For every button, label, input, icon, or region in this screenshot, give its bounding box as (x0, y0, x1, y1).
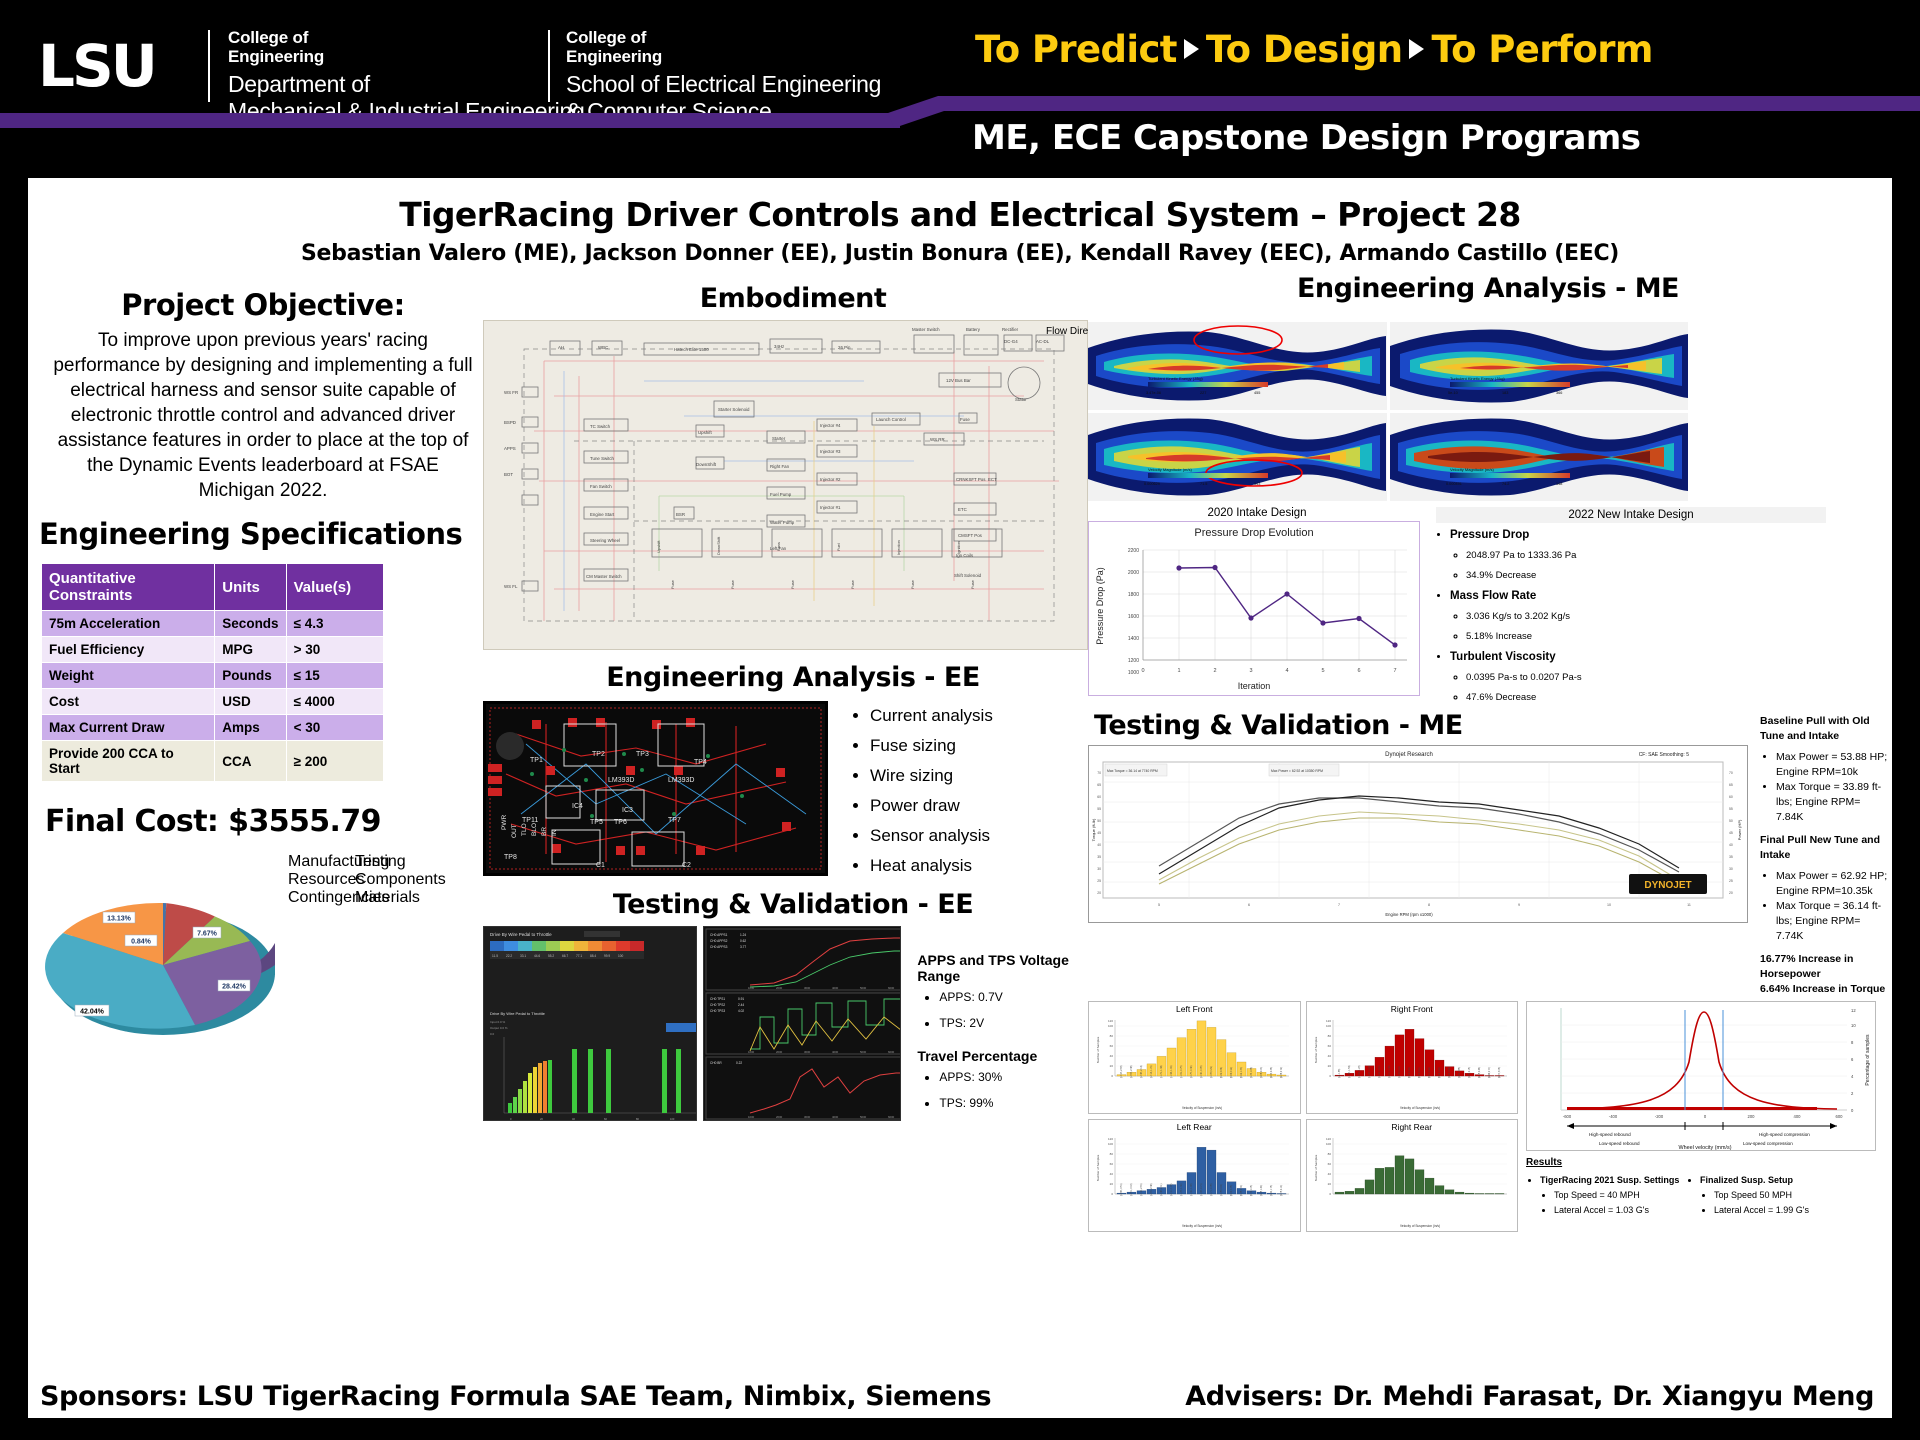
me-bullet-title: Pressure Drop (1450, 525, 1826, 546)
svg-text:3000: 3000 (804, 1050, 811, 1054)
svg-text:[2.03,2.38): [2.03,2.38) (1271, 1067, 1273, 1078)
wiring-schematic-image: AHWBC Hatech Elite 1500 34Hz26 Pin Maste… (483, 320, 1088, 650)
logo-divider-1 (208, 30, 210, 102)
svg-text:80: 80 (1110, 1034, 1114, 1038)
svg-text:200: 200 (1748, 1114, 1756, 1119)
col-units: Units (215, 564, 286, 611)
svg-text:[0.00,0.35): [0.00,0.35) (1231, 1185, 1233, 1196)
summary-hp: 16.77% Increase in Horsepower (1760, 952, 1888, 982)
svg-text:40: 40 (1327, 1054, 1331, 1058)
svg-text:Ignition: Ignition (956, 541, 961, 554)
middle-column: Embodiment (483, 283, 1103, 1121)
svg-text:Water Pump: Water Pump (770, 520, 795, 525)
pcb-layout-image: TP1TP2TP3 TP4TP11TP5 TP6TP7TP8 C1C2 IC4I… (483, 701, 828, 876)
svg-text:Fuse: Fuse (670, 579, 675, 589)
svg-text:DC-G4: DC-G4 (1004, 339, 1018, 344)
svg-text:100: 100 (618, 954, 624, 958)
legend-label: Materials (355, 889, 420, 906)
svg-text:[1.40,1.75): [1.40,1.75) (1271, 1185, 1273, 1196)
legend-item: Testing (355, 853, 415, 871)
chart-title: Pressure Drop Evolution (1194, 527, 1313, 539)
svg-text:2.44: 2.44 (738, 1003, 744, 1007)
poster-header: LSU College of Engineering Department of… (0, 0, 1920, 175)
svg-text:6000: 6000 (888, 986, 895, 990)
tagline-perform: To Perform (1431, 28, 1652, 71)
dept1-college: College of (228, 28, 584, 47)
svg-text:WS RR: WS RR (930, 437, 945, 442)
svg-text:[0.35,0.70): [0.35,0.70) (1241, 1185, 1243, 1196)
results-col1-item: Lateral Accel = 1.03 G's (1554, 1203, 1686, 1218)
svg-text:40: 40 (1097, 843, 1101, 847)
svg-text:[-1.44,-1.09): [-1.44,-1.09) (1171, 1065, 1173, 1078)
svg-text:600: 600 (1836, 1114, 1844, 1119)
svg-text:[1.05,1.40): [1.05,1.40) (1261, 1185, 1263, 1196)
svg-text:60: 60 (1110, 1162, 1114, 1166)
svg-text:[-0.30,0.00): [-0.30,0.00) (1399, 1066, 1401, 1078)
svg-text:IN: IN (551, 829, 558, 836)
svg-text:[1.75,2.10): [1.75,2.10) (1281, 1185, 1283, 1196)
svg-text:3.77: 3.77 (740, 945, 746, 949)
svg-text:55.2: 55.2 (548, 954, 554, 958)
spec-units: USD (215, 689, 286, 715)
svg-text:34Hz: 34Hz (774, 344, 784, 349)
svg-text:Input 0.0 %: Input 0.0 % (490, 1020, 506, 1024)
objective-text: To improve upon previous years' racing p… (33, 322, 493, 503)
logo-divider-2 (548, 30, 550, 102)
svg-text:CH0 APPS3: CH0 APPS3 (710, 945, 728, 949)
svg-text:WS FL: WS FL (504, 584, 518, 589)
svg-text:40: 40 (1729, 843, 1733, 847)
svg-text:Velocity Magnitude (m/s): Velocity Magnitude (m/s) (1450, 467, 1494, 472)
svg-text:1000: 1000 (1128, 670, 1139, 676)
svg-text:60: 60 (1097, 795, 1101, 799)
svg-text:[1.68,2.03): [1.68,2.03) (1261, 1067, 1263, 1078)
hist-title: Right Front (1307, 1002, 1518, 1014)
svg-text:Engine Start: Engine Start (590, 512, 615, 517)
table-row: Max Current Draw Amps < 30 (42, 715, 384, 741)
svg-text:3000: 3000 (804, 1115, 811, 1119)
poster-body: TigerRacing Driver Controls and Electric… (28, 178, 1892, 1418)
svg-text:[-0.05,0.29): [-0.05,0.29) (1211, 1066, 1213, 1078)
table-row: Weight Pounds ≤ 15 (42, 663, 384, 689)
svg-text:DownShift: DownShift (696, 462, 717, 467)
results-col2-item: Lateral Accel = 1.99 G's (1714, 1203, 1861, 1218)
spec-value: ≤ 4000 (286, 689, 383, 715)
svg-text:LM393D: LM393D (608, 777, 634, 784)
svg-text:7: 7 (1338, 903, 1340, 907)
suspension-histograms: Left Front (1088, 1001, 1518, 1232)
dyno-chart: Dynojet Research CF: SAE Smoothing: 5 (1088, 745, 1748, 923)
ee-bullet: Sensor analysis (870, 821, 993, 851)
svg-text:WS FR: WS FR (504, 390, 518, 395)
dept2-college: College of (566, 28, 881, 47)
svg-text:CH0 APPS1: CH0 APPS1 (710, 933, 728, 937)
svg-text:0.000629: 0.000629 (1144, 482, 1160, 486)
svg-text:74.2: 74.2 (1502, 482, 1509, 486)
results-heading: Results (1526, 1155, 1876, 1170)
svg-text:45: 45 (1729, 831, 1733, 835)
svg-text:[-2,-1.85): [-2,-1.85) (1339, 1068, 1341, 1078)
svg-text:20: 20 (1110, 1182, 1114, 1186)
spec-value: < 30 (286, 715, 383, 741)
svg-text:30: 30 (1729, 867, 1733, 871)
svg-text:60: 60 (1110, 1044, 1114, 1048)
final-pull-item: Max Power = 62.92 HP; Engine RPM=10.35k (1776, 869, 1888, 899)
svg-text:-400: -400 (1609, 1114, 1618, 1119)
embodiment-heading: Embodiment (483, 283, 1103, 314)
svg-text:148: 148 (1556, 482, 1562, 486)
svg-text:[-0.92,-0.61): [-0.92,-0.61) (1379, 1065, 1381, 1078)
svg-text:[-0.61,-0.30): [-0.61,-0.30) (1389, 1065, 1391, 1078)
svg-text:0: 0 (1111, 1192, 1113, 1196)
dept-mechanical: College of Engineering Department of Mec… (228, 28, 584, 125)
svg-text:3: 3 (1249, 668, 1252, 674)
svg-text:1000: 1000 (748, 1050, 755, 1054)
hist-title: Left Front (1089, 1002, 1300, 1014)
final-cost-label: Final Cost: $3555.79 (45, 804, 493, 839)
histogram-left-rear: Left Rear (1088, 1119, 1301, 1232)
svg-text:Right Fan: Right Fan (770, 464, 790, 469)
svg-text:0: 0 (1329, 1192, 1331, 1196)
svg-text:BLO: BLO (531, 823, 538, 836)
ee-bullet: Fuse sizing (870, 731, 993, 761)
left-column: Project Objective: To improve upon previ… (33, 288, 493, 1060)
tagline-predict: To Predict (975, 28, 1177, 71)
svg-text:[-2.11,-1.76): [-2.11,-1.76) (1171, 1183, 1173, 1196)
svg-text:[-0.40,-0.05): [-0.40,-0.05) (1201, 1065, 1203, 1078)
svg-text:5000: 5000 (860, 1115, 867, 1119)
svg-text:40: 40 (1110, 1172, 1114, 1176)
wheel-velocity-distribution-chart: -600-400-200 0200400 600 024 6810 12 Per… (1526, 1001, 1876, 1151)
me-bullet-item: 3.036 Kg/s to 3.202 Kg/s (1466, 607, 1826, 627)
svg-text:Hatech Elite 1500: Hatech Elite 1500 (674, 347, 709, 352)
svg-text:Fan Switch: Fan Switch (590, 484, 612, 489)
svg-text:Injector #4: Injector #4 (820, 423, 841, 428)
svg-text:100: 100 (1325, 1142, 1330, 1146)
svg-text:6: 6 (1357, 668, 1360, 674)
svg-text:TLO: TLO (521, 823, 528, 836)
svg-text:0.0: 0.0 (490, 1032, 495, 1036)
svg-text:2200: 2200 (1128, 548, 1139, 554)
results-col2-title: Finalized Susp. Setup (1700, 1173, 1861, 1188)
col-constraints: Quantitative Constraints (42, 564, 215, 611)
spec-name: Weight (42, 663, 215, 689)
svg-text:CRNKSFT Pos: CRNKSFT Pos (956, 477, 986, 482)
legend-label: Components (355, 871, 446, 888)
svg-text:TC Switch: TC Switch (590, 424, 611, 429)
lsu-logo: LSU (38, 38, 168, 94)
sponsors-line: Sponsors: LSU TigerRacing Formula SAE Te… (40, 1381, 991, 1412)
svg-text:455: 455 (1254, 391, 1260, 395)
svg-text:Max Power = 62.92 at 10350 RPM: Max Power = 62.92 at 10350 RPM (1271, 769, 1323, 773)
legend-label: Resources (288, 871, 364, 888)
dept-electrical: College of Engineering School of Electri… (566, 28, 881, 125)
svg-text:50: 50 (1729, 819, 1733, 823)
svg-text:0.22: 0.22 (736, 1061, 742, 1065)
me-bullet-title: Turbulent Viscosity (1450, 647, 1826, 668)
svg-text:0.000491: 0.000491 (1446, 482, 1462, 486)
svg-text:CH0 BR: CH0 BR (710, 1061, 722, 1065)
caption-2022-intake: 2022 New Intake Design (1436, 507, 1826, 523)
svg-text:TP3: TP3 (636, 751, 649, 758)
purple-bar-left (0, 113, 900, 128)
svg-text:[-1.54,-1.23): [-1.54,-1.23) (1359, 1065, 1361, 1078)
purple-bar-right (962, 96, 1920, 111)
svg-text:[0.92,1.23): [0.92,1.23) (1439, 1067, 1441, 1078)
svg-text:120: 120 (1108, 1137, 1113, 1141)
svg-text:[0.99,1.33): [0.99,1.33) (1241, 1067, 1243, 1078)
svg-text:60: 60 (1327, 1162, 1331, 1166)
svg-text:[-3.16,-2.81): [-3.16,-2.81) (1141, 1183, 1143, 1196)
svg-text:35: 35 (1729, 855, 1733, 859)
legend-item: Manufacturing (288, 853, 348, 871)
svg-text:[-2.83,-2.48): [-2.83,-2.48) (1131, 1065, 1133, 1078)
svg-text:Fuse: Fuse (970, 579, 975, 589)
svg-text:[2.15,2.46): [2.15,2.46) (1479, 1067, 1481, 1078)
capstone-title: ME, ECE Capstone Design Programs (972, 118, 1641, 158)
hist-title: Right Rear (1307, 1120, 1518, 1132)
tv-ee-item: TPS: 2V (939, 1010, 1103, 1036)
me-bullet-item: 0.0395 Pa-s to 0.0207 Pa-s (1466, 668, 1826, 688)
svg-text:C2: C2 (682, 862, 691, 869)
svg-text:1400: 1400 (1128, 636, 1139, 642)
svg-text:45: 45 (1097, 831, 1101, 835)
table-row: Fuel Efficiency MPG > 30 (42, 637, 384, 663)
svg-text:65: 65 (1097, 783, 1101, 787)
svg-text:70: 70 (1097, 771, 1101, 775)
svg-text:OUT: OUT (511, 824, 518, 838)
table-row: Provide 200 CCA to Start CCA ≥ 200 (42, 741, 384, 782)
svg-text:40: 40 (1327, 1172, 1331, 1176)
svg-text:Injector #1: Injector #1 (820, 505, 841, 510)
svg-text:[-0.71,-0.35): [-0.71,-0.35) (1211, 1183, 1213, 1196)
svg-text:10: 10 (1851, 1023, 1856, 1028)
dept1-line1: Department of (228, 71, 584, 98)
svg-text:[-3.51,-3.16): [-3.51,-3.16) (1131, 1183, 1133, 1196)
col-values: Value(s) (286, 564, 383, 611)
me-bullet-item: 34.9% Decrease (1466, 566, 1826, 586)
svg-text:Low-speed rebound: Low-speed rebound (1599, 1141, 1640, 1146)
svg-text:143: 143 (1254, 482, 1260, 486)
svg-text:8: 8 (1428, 903, 1430, 907)
spec-units: MPG (215, 637, 286, 663)
svg-text:Power (HP): Power (HP) (1737, 819, 1742, 840)
svg-text:6: 6 (1248, 903, 1250, 907)
spec-units: Amps (215, 715, 286, 741)
svg-text:TP11: TP11 (522, 817, 538, 824)
svg-text:BSR: BSR (676, 512, 685, 517)
svg-text:[-1.41,-1.06): [-1.41,-1.06) (1191, 1183, 1193, 1196)
svg-text:Drive By Wire Pedal to Throttl: Drive By Wire Pedal to Throttle (490, 932, 552, 937)
svg-text:CMSFT Pos: CMSFT Pos (958, 533, 983, 538)
svg-text:[-0.75,-0.40): [-0.75,-0.40) (1191, 1065, 1193, 1078)
baseline-item: Max Torque = 33.89 ft-lbs; Engine RPM= 7… (1776, 780, 1888, 825)
svg-text:[-1.85,-1.54): [-1.85,-1.54) (1349, 1065, 1351, 1078)
cfd-contour-grid: Turbulent Kinetic Energy (J/kg) 3.47e-06… (1088, 322, 1688, 501)
spec-name: Cost (42, 689, 215, 715)
svg-text:BR: BR (541, 827, 548, 836)
svg-text:[-1.79,-1.44): [-1.79,-1.44) (1161, 1065, 1163, 1078)
tv-ee-item: APPS: 30% (939, 1064, 1103, 1090)
svg-text:Wheel velocity (mm/s): Wheel velocity (mm/s) (1678, 1145, 1731, 1150)
svg-text:2000: 2000 (776, 986, 783, 990)
svg-text:Dynojet Research: Dynojet Research (1385, 752, 1433, 758)
legend-item: Resources (288, 871, 348, 889)
svg-text:33.1: 33.1 (520, 954, 526, 958)
final-pull-item: Max Torque = 36.14 ft-lbs; Engine RPM= 7… (1776, 899, 1888, 944)
dept1-engineering: Engineering (228, 47, 584, 66)
svg-text:Number of Samples: Number of Samples (1096, 1154, 1100, 1181)
svg-text:Fuse: Fuse (730, 579, 735, 589)
final-pull-title: Final Pull New Tune and Intake (1760, 833, 1888, 863)
legend-item: Materials (355, 889, 415, 907)
svg-text:1000: 1000 (748, 1115, 755, 1119)
svg-text:4000: 4000 (832, 986, 839, 990)
ee-bullet: Current analysis (870, 701, 993, 731)
svg-text:Shift Solenoid: Shift Solenoid (954, 573, 982, 578)
svg-text:[0.70,1.05): [0.70,1.05) (1251, 1185, 1253, 1196)
svg-text:WBC: WBC (598, 345, 608, 350)
svg-text:C1: C1 (596, 862, 605, 869)
svg-text:[2.77,3.08): [2.77,3.08) (1499, 1067, 1501, 1078)
svg-text:28.42%: 28.42% (222, 984, 247, 991)
svg-text:5000: 5000 (860, 1050, 867, 1054)
svg-text:Velocity of Suspension (in/s): Velocity of Suspension (in/s) (1399, 1224, 1439, 1228)
svg-text:3000: 3000 (804, 986, 811, 990)
legend-label: Testing (355, 853, 406, 870)
arrow-right-icon-2 (1409, 39, 1424, 59)
svg-text:High-speed compression: High-speed compression (1759, 1132, 1810, 1137)
svg-text:1.24: 1.24 (740, 933, 746, 937)
svg-text:BOT: BOT (504, 472, 513, 477)
svg-text:Max Torque = 36.14 at 7740 RPM: Max Torque = 36.14 at 7740 RPM (1107, 769, 1158, 773)
svg-text:[1.54,1.85): [1.54,1.85) (1459, 1067, 1461, 1078)
svg-text:5: 5 (1158, 903, 1160, 907)
svg-text:44.6: 44.6 (534, 954, 540, 958)
svg-text:[0.64,0.99): [0.64,0.99) (1231, 1067, 1233, 1078)
svg-text:183: 183 (1502, 391, 1508, 395)
ee-analysis-bullets: Current analysis Fuse sizing Wire sizing… (850, 701, 993, 881)
svg-text:TP4: TP4 (694, 759, 707, 766)
svg-text:IC3: IC3 (622, 807, 633, 814)
cfd-cell-velocity-2022: Velocity Magnitude (m/s) 0.000491 74.2 1… (1390, 413, 1689, 501)
svg-text:100: 100 (1108, 1024, 1113, 1028)
svg-text:4.02: 4.02 (738, 1009, 744, 1013)
wheel-velocity-panel: -600-400-200 0200400 600 024 6810 12 Per… (1526, 1001, 1876, 1232)
tv-ee-item: APPS: 0.7V (939, 984, 1103, 1010)
svg-text:2000: 2000 (776, 1050, 783, 1054)
svg-text:227: 227 (1200, 391, 1206, 395)
dept2-line1: School of Electrical Engineering (566, 71, 881, 98)
cfd-cell-velocity-2020: Velocity Magnitude (m/s) 0.000629 71.5 1… (1088, 413, 1387, 501)
svg-text:6000: 6000 (888, 1115, 895, 1119)
svg-text:20: 20 (1097, 891, 1101, 895)
svg-text:TP2: TP2 (592, 751, 605, 758)
svg-text:PWR: PWR (501, 815, 508, 830)
spec-units: Pounds (215, 663, 286, 689)
spec-units: CCA (215, 741, 286, 782)
svg-text:88.4: 88.4 (590, 954, 596, 958)
svg-text:Upshift: Upshift (698, 430, 712, 435)
svg-text:Tune Switch: Tune Switch (590, 456, 615, 461)
svg-text:Turbulent Kinetic Energy (J/kg: Turbulent Kinetic Energy (J/kg) (1450, 376, 1505, 381)
svg-text:13.13%: 13.13% (107, 916, 132, 923)
me-bullet-item: 2048.97 Pa to 1333.36 Pa (1466, 546, 1826, 566)
dyno-results-text: Baseline Pull with Old Tune and Intake M… (1748, 710, 1888, 997)
cost-breakdown-pie-chart: 13.13% 0.84% 7.67% 28.42% 42.04% Manufac… (45, 845, 390, 1060)
svg-text:Turbulent Kinetic Energy (J/kg: Turbulent Kinetic Energy (J/kg) (1148, 376, 1203, 381)
svg-text:[-2.48,-2.14): [-2.48,-2.14) (1141, 1065, 1143, 1078)
tv-ee-item: TPS: 99% (939, 1090, 1103, 1116)
svg-text:[-1.76,-1.41): [-1.76,-1.41) (1181, 1183, 1183, 1196)
svg-text:80: 80 (1327, 1034, 1331, 1038)
svg-text:ECT: ECT (988, 477, 997, 482)
svg-text:DownShift: DownShift (716, 536, 721, 555)
summary-torque: 6.64% Increase in Torque (1760, 982, 1888, 997)
svg-text:0: 0 (1141, 668, 1144, 674)
histogram-right-front: Right Front (1306, 1001, 1519, 1114)
svg-text:0: 0 (1111, 1074, 1113, 1078)
svg-text:Output 0.0 %: Output 0.0 % (490, 1026, 508, 1030)
svg-text:100: 100 (1108, 1142, 1113, 1146)
svg-text:CH0 APPS2: CH0 APPS2 (710, 939, 728, 943)
svg-text:42.04%: 42.04% (80, 1009, 105, 1016)
caption-2020-intake: 2020 Intake Design (1088, 507, 1426, 519)
svg-text:10: 10 (1607, 903, 1611, 907)
dept2-engineering: Engineering (566, 47, 881, 66)
svg-text:4: 4 (1285, 668, 1288, 674)
svg-text:5000: 5000 (860, 986, 867, 990)
svg-text:Number of Samples: Number of Samples (1096, 1036, 1100, 1063)
spec-value: ≤ 15 (286, 663, 383, 689)
svg-text:366: 366 (1556, 391, 1562, 395)
svg-text:[-1.09,-0.75): [-1.09,-0.75) (1181, 1065, 1183, 1078)
svg-text:1800: 1800 (1128, 592, 1139, 598)
hist-title: Left Rear (1089, 1120, 1300, 1132)
svg-text:[2.46,2.77): [2.46,2.77) (1489, 1067, 1491, 1078)
svg-text:35: 35 (1097, 855, 1101, 859)
right-column: Engineering Analysis - ME Flow Direction (1088, 273, 1888, 1232)
svg-text:80: 80 (1110, 1152, 1114, 1156)
svg-text:2000: 2000 (776, 1115, 783, 1119)
svg-text:2: 2 (1213, 668, 1216, 674)
svg-text:9: 9 (1518, 903, 1520, 907)
svg-text:[0.00,0.30): [0.00,0.30) (1409, 1067, 1411, 1078)
author-list: Sebastian Valero (ME), Jackson Donner (E… (28, 241, 1892, 266)
svg-text:Percentage of samples: Percentage of samples (1865, 1034, 1871, 1086)
svg-text:Steering Wheel: Steering Wheel (590, 538, 620, 543)
svg-text:[-2.46,-2.11): [-2.46,-2.11) (1161, 1183, 1163, 1196)
svg-text:Torque (ft-lb): Torque (ft-lb) (1091, 818, 1096, 841)
svg-text:11: 11 (1687, 903, 1691, 907)
tv-me-heading: Testing & Validation - ME (1088, 710, 1748, 741)
svg-text:120: 120 (1108, 1019, 1113, 1023)
baseline-title: Baseline Pull with Old Tune and Intake (1760, 714, 1888, 744)
svg-text:CH0 TPS2: CH0 TPS2 (710, 1003, 725, 1007)
svg-text:Number of Samples: Number of Samples (1314, 1154, 1318, 1181)
svg-text:12: 12 (1851, 1008, 1856, 1013)
svg-text:[0.30,0.61): [0.30,0.61) (1419, 1067, 1421, 1078)
spec-units: Seconds (215, 611, 286, 637)
svg-text:26 Pin: 26 Pin (838, 345, 851, 350)
results-col2-item: Top Speed 50 MPH (1714, 1188, 1861, 1203)
svg-text:3.47e-06: 3.47e-06 (1146, 391, 1161, 395)
svg-text:ETC: ETC (958, 507, 967, 512)
svg-text:7: 7 (1393, 668, 1396, 674)
chart-xlabel: Iteration (1238, 681, 1271, 691)
svg-text:[-3.86,-3.51): [-3.86,-3.51) (1121, 1183, 1123, 1196)
tv-ee-heading: Testing & Validation - EE (483, 889, 1103, 920)
